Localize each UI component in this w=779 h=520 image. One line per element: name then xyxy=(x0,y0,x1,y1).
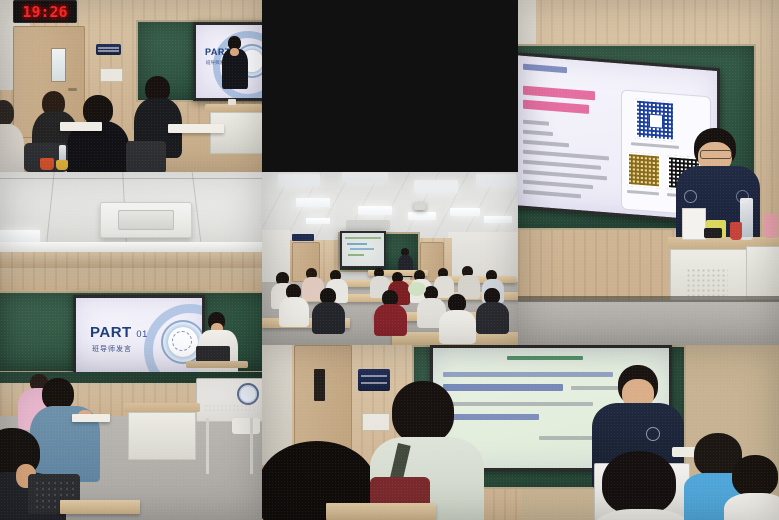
podium xyxy=(196,378,262,422)
snack-item xyxy=(40,158,54,170)
panel-top-left: 19:26 PART 01 班导师发言 xyxy=(0,0,262,172)
front-desk-top xyxy=(124,403,200,412)
panel-bottom-left-students xyxy=(0,372,262,520)
slide-subtitle: 班导师发言 xyxy=(92,344,132,354)
lectern-body xyxy=(210,112,262,154)
laptop xyxy=(196,346,230,362)
podium-emblem xyxy=(237,383,259,405)
projection-screen: PART 01 班导师发言 xyxy=(73,295,205,372)
clock-time: 19:26 xyxy=(22,3,67,21)
room-sign xyxy=(96,44,121,55)
photo-collage: 19:26 PART 01 班导师发言 xyxy=(0,0,779,520)
desk-row xyxy=(168,124,224,133)
panel-center-wide-hall xyxy=(262,172,520,345)
panel-lower-left-slide: PART 01 班导师发言 xyxy=(0,268,262,372)
desk-body xyxy=(746,246,779,300)
desk-row xyxy=(60,122,102,131)
desk-row xyxy=(326,503,436,520)
lectern-top xyxy=(186,361,248,368)
slide-part-label: PART 01 xyxy=(90,324,148,341)
gold-qr-code xyxy=(627,152,661,189)
pink-cup xyxy=(764,214,777,238)
slide-heading-line-1 xyxy=(523,86,595,101)
lectern-top xyxy=(205,104,262,112)
projection-screen xyxy=(340,231,386,268)
panel-right-qr-slide xyxy=(518,0,779,345)
chair xyxy=(126,141,166,172)
red-cup xyxy=(730,222,742,240)
slide-part-number: 01 xyxy=(136,329,147,339)
front-desk xyxy=(128,412,196,460)
ceiling-projector xyxy=(414,202,426,210)
panel-mid-left-ceiling xyxy=(0,172,262,268)
desk-row xyxy=(60,500,140,514)
eyeglasses xyxy=(700,150,732,159)
panel-bottom-center-speaker xyxy=(262,345,779,520)
room-sign xyxy=(358,369,390,391)
desk-row xyxy=(72,414,110,422)
wall-clock: 19:26 xyxy=(13,0,77,23)
snack-item xyxy=(56,160,68,170)
slide-heading-line-2 xyxy=(523,100,589,114)
